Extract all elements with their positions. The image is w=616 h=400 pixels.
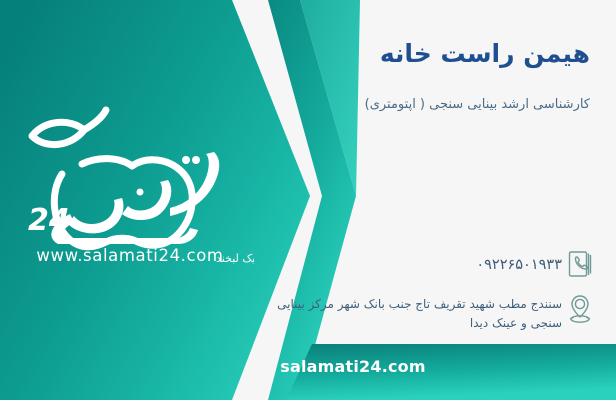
contact-row-phone[interactable]: ۰۹۲۲۶۵۰۱۹۳۳ — [258, 246, 598, 282]
brand-logo: 24 براحتی یک لبخند www.salamati24.com — [10, 96, 254, 276]
address-text: سنندج مطب شهید تقریف تاج جنب بانک شهر مر… — [258, 290, 562, 332]
phonebook-icon — [562, 246, 598, 282]
location-pin-icon — [562, 290, 598, 326]
apple-leaf-icon — [32, 122, 84, 144]
business-card: 24 براحتی یک لبخند www.salamati24.com هی… — [0, 0, 616, 400]
person-credentials-subtitle: کارشناسی ارشد بینایی سنجی ( اپتومتری) — [260, 96, 590, 114]
contact-details: ۰۹۲۲۶۵۰۱۹۳۳ سنندج مطب شهید تقریف تاج جنب… — [258, 246, 598, 340]
apple-outline — [54, 159, 192, 247]
person-name-title: هیمن راست خانه — [260, 38, 590, 69]
footer-website[interactable]: salamati24.com — [0, 357, 616, 376]
contact-row-address[interactable]: سنندج مطب شهید تقریف تاج جنب بانک شهر مر… — [258, 290, 598, 332]
svg-text:24: 24 — [28, 203, 70, 238]
phone-number-text: ۰۹۲۲۶۵۰۱۹۳۳ — [258, 246, 562, 276]
logo-24-badge: 24 — [28, 203, 70, 238]
apple-stem — [84, 110, 106, 130]
logo-website-url: www.salamati24.com — [12, 246, 248, 265]
